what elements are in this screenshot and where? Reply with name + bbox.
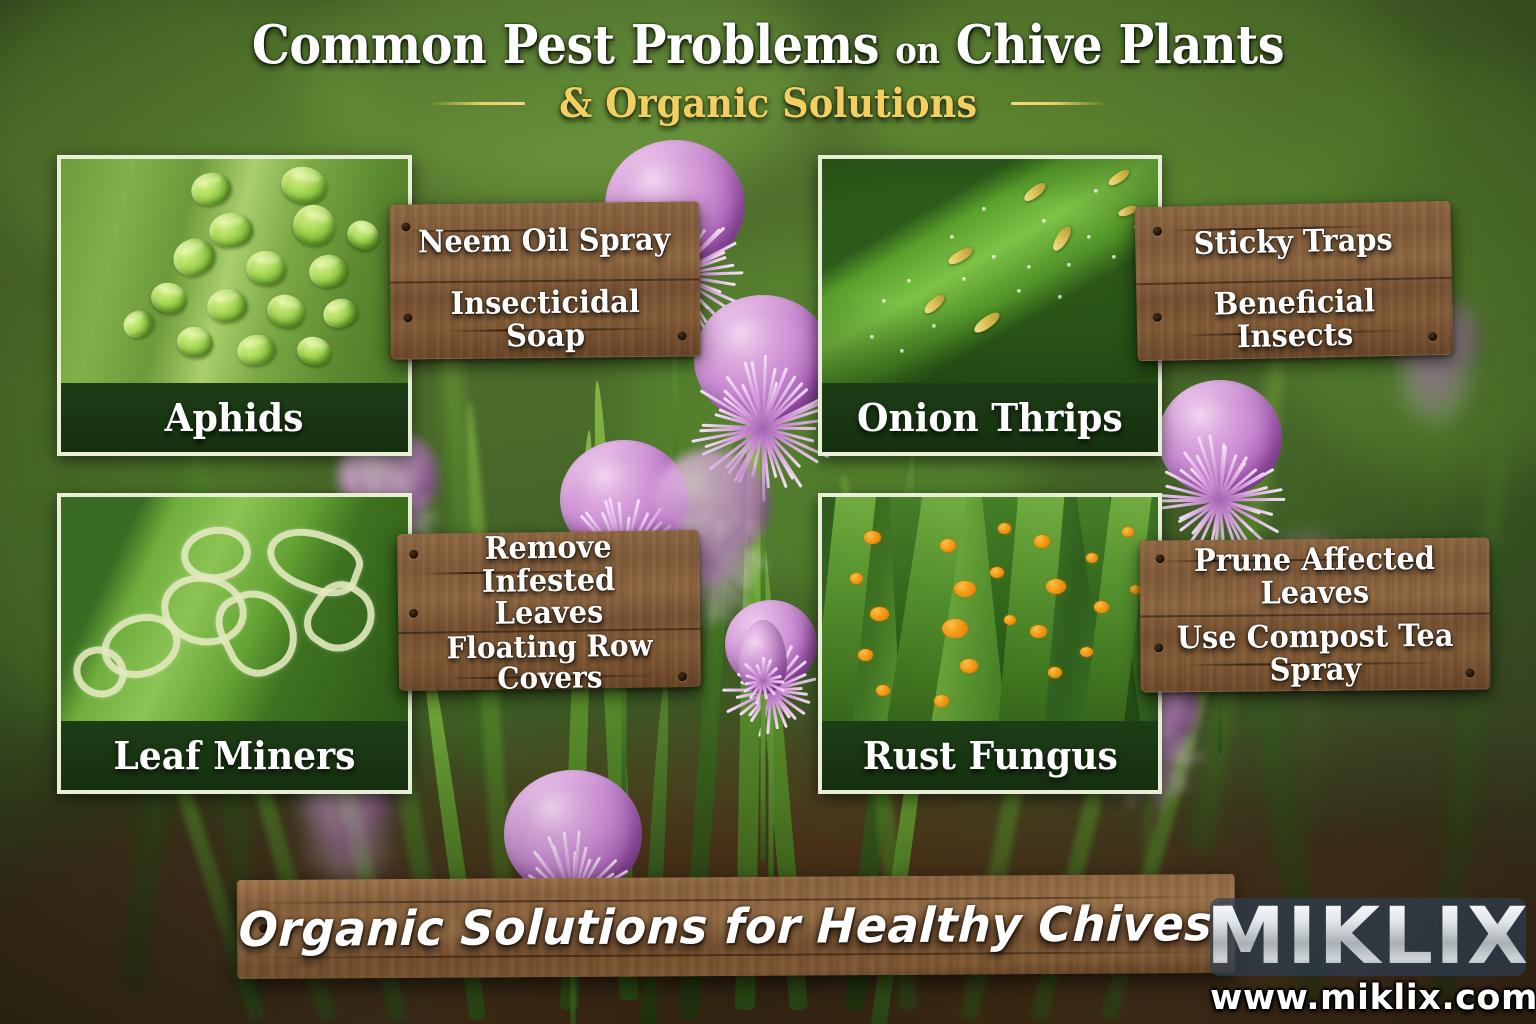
rust-on-leaves-image bbox=[822, 497, 1158, 729]
solution-line: Remove Infested Leaves bbox=[432, 530, 666, 631]
solution-line: Neem Oil Spray bbox=[409, 224, 680, 259]
page-title: Common Pest Problems on Chive Plants bbox=[77, 18, 1459, 74]
leaf-miners-label: Leaf Miners bbox=[113, 733, 355, 778]
solution-sign-rust-fungus[interactable]: Prune Affected Leaves Use Compost Tea Sp… bbox=[1139, 537, 1490, 692]
page-subtitle: & Organic Solutions bbox=[559, 80, 977, 127]
solution-line: Floating Row Covers bbox=[409, 630, 691, 691]
infographic-header: Common Pest Problems on Chive Plants & O… bbox=[0, 18, 1536, 127]
aphids-label-bar: Aphids bbox=[61, 383, 408, 452]
solution-line: Beneficial Insects bbox=[1147, 284, 1442, 355]
onion-thrips-label-bar: Onion Thrips bbox=[822, 383, 1158, 452]
solution-sign-onion-thrips[interactable]: Sticky Traps Beneficial Insects bbox=[1134, 201, 1453, 362]
solution-line: Sticky Traps bbox=[1184, 223, 1402, 260]
sign-plank: Insecticidal Soap bbox=[390, 278, 701, 360]
nail-head-icon bbox=[1153, 227, 1162, 236]
aphids-photo bbox=[61, 159, 408, 391]
nail-head-icon bbox=[409, 608, 418, 617]
pest-panel-aphids[interactable]: Aphids bbox=[57, 155, 412, 456]
onion-thrips-photo bbox=[822, 159, 1158, 391]
solution-line: Use Compost Tea Spray bbox=[1152, 620, 1478, 688]
title-main: Common Pest Problems bbox=[252, 14, 879, 76]
leaf-miners-label-bar: Leaf Miners bbox=[61, 721, 408, 790]
subtitle-row: & Organic Solutions bbox=[0, 80, 1536, 127]
thrips-on-stem-image bbox=[822, 159, 1158, 391]
infographic-canvas: Common Pest Problems on Chive Plants & O… bbox=[0, 0, 1536, 1024]
rust-fungus-photo bbox=[822, 497, 1158, 729]
solution-sign-aphids[interactable]: Neem Oil Spray Insecticidal Soap bbox=[389, 201, 701, 359]
logo-wordmark: MIKLIX bbox=[1206, 898, 1530, 976]
sign-plank: Sticky Traps bbox=[1134, 201, 1452, 284]
logo-url: www.miklix.com bbox=[1210, 978, 1530, 1018]
title-rest: Chive Plants bbox=[956, 14, 1285, 76]
leaf-miners-photo bbox=[61, 497, 408, 729]
pest-panel-onion-thrips[interactable]: Onion Thrips bbox=[818, 155, 1162, 456]
leaf-miner-trails-image bbox=[61, 497, 408, 729]
rust-fungus-label: Rust Fungus bbox=[862, 733, 1117, 778]
pest-panel-leaf-miners[interactable]: Leaf Miners bbox=[57, 493, 412, 794]
aphids-label: Aphids bbox=[165, 395, 304, 440]
sign-plank: Use Compost Tea Spray bbox=[1140, 612, 1491, 692]
onion-thrips-label: Onion Thrips bbox=[857, 395, 1123, 440]
rust-fungus-label-bar: Rust Fungus bbox=[822, 721, 1158, 790]
sign-plank: Beneficial Insects bbox=[1136, 277, 1454, 362]
nail-head-icon bbox=[409, 550, 418, 559]
subtitle-rule-right bbox=[1011, 102, 1107, 105]
sign-plank: Prune Affected Leaves bbox=[1139, 537, 1490, 615]
sign-plank: Remove Infested Leaves bbox=[397, 530, 700, 632]
bottom-banner-sign[interactable]: Organic Solutions for Healthy Chives! bbox=[237, 874, 1236, 979]
subtitle-rule-left bbox=[429, 102, 525, 105]
miklix-watermark[interactable]: MIKLIX www.miklix.com bbox=[1210, 898, 1530, 1016]
solution-line: Prune Affected Leaves bbox=[1152, 543, 1478, 611]
sign-plank: Neem Oil Spray bbox=[389, 201, 700, 281]
title-connector: on bbox=[895, 30, 939, 72]
logo-box: MIKLIX bbox=[1210, 898, 1526, 976]
solution-sign-leaf-miners[interactable]: Remove Infested Leaves Floating Row Cove… bbox=[397, 530, 701, 691]
pest-panel-rust-fungus[interactable]: Rust Fungus bbox=[818, 493, 1162, 794]
chive-flower-bud bbox=[736, 620, 790, 850]
aphid-colony-image bbox=[61, 159, 408, 391]
sign-plank: Floating Row Covers bbox=[398, 628, 701, 692]
banner-text: Organic Solutions for Healthy Chives! bbox=[237, 895, 1235, 957]
solution-line: Insecticidal Soap bbox=[401, 286, 690, 354]
